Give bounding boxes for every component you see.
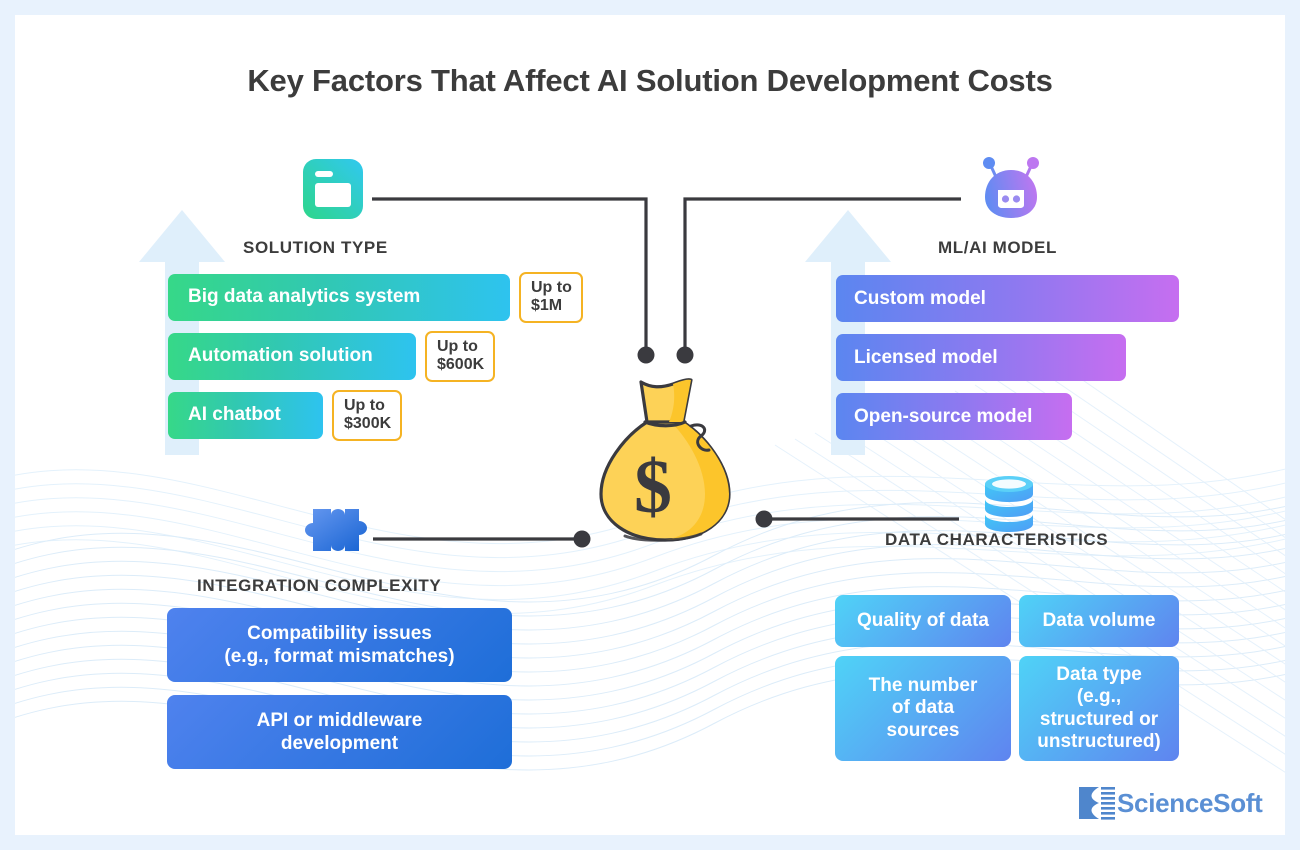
data-characteristics-box[interactable]: The number of data sources xyxy=(835,656,1011,761)
ml-ai-model-heading: ML/AI MODEL xyxy=(938,238,1057,258)
sciencesoft-logo: ScienceSoft xyxy=(1077,783,1263,823)
data-characteristics-heading: DATA CHARACTERISTICS xyxy=(885,530,1108,550)
data-characteristics-box[interactable]: Data type (e.g., structured or unstructu… xyxy=(1019,656,1179,761)
solution-type-bar[interactable]: AI chatbot xyxy=(168,392,323,439)
page-title: Key Factors That Affect AI Solution Deve… xyxy=(15,63,1285,99)
money-bag-icon: $ xyxy=(585,370,745,555)
data-characteristics-box[interactable]: Data volume xyxy=(1019,595,1179,647)
solution-type-bar[interactable]: Big data analytics system xyxy=(168,274,510,321)
puzzle-piece-icon xyxy=(305,503,367,564)
solution-type-cost-badge: Up to $600K xyxy=(425,331,495,382)
database-icon xyxy=(983,475,1035,538)
solution-type-row: AI chatbot Up to $300K xyxy=(168,390,402,441)
integration-complexity-heading: INTEGRATION COMPLEXITY xyxy=(197,576,441,596)
ml-ai-model-bar[interactable]: Custom model xyxy=(836,275,1179,322)
solution-type-cost-badge: Up to $300K xyxy=(332,390,402,441)
sciencesoft-logo-text: ScienceSoft xyxy=(1117,788,1263,819)
section-solution-type: SOLUTION TYPE Big data analytics system … xyxy=(130,155,630,455)
integration-complexity-box[interactable]: API or middleware development xyxy=(167,695,512,769)
solution-type-row: Big data analytics system Up to $1M xyxy=(168,272,583,323)
data-characteristics-box[interactable]: Quality of data xyxy=(835,595,1011,647)
robot-icon xyxy=(980,157,1042,226)
solution-type-cost-badge: Up to $1M xyxy=(519,272,583,323)
sciencesoft-mark-icon xyxy=(1077,783,1117,823)
solution-type-bar[interactable]: Automation solution xyxy=(168,333,416,380)
section-ml-ai-model: ML/AI MODEL Custom model Licensed model … xyxy=(805,155,1235,455)
integration-complexity-box[interactable]: Compatibility issues (e.g., format misma… xyxy=(167,608,512,682)
solution-type-heading: SOLUTION TYPE xyxy=(243,238,388,258)
dollar-symbol: $ xyxy=(634,445,672,529)
section-integration-complexity: INTEGRATION COMPLEXITY Compatibility iss… xyxy=(165,503,565,773)
ml-ai-model-bar[interactable]: Open-source model xyxy=(836,393,1072,440)
infographic-canvas: Key Factors That Affect AI Solution Deve… xyxy=(15,15,1285,835)
section-data-characteristics: DATA CHARACTERISTICS Quality of data Dat… xyxy=(833,475,1233,775)
window-icon xyxy=(303,159,363,224)
solution-type-row: Automation solution Up to $600K xyxy=(168,331,495,382)
ml-ai-model-bar[interactable]: Licensed model xyxy=(836,334,1126,381)
